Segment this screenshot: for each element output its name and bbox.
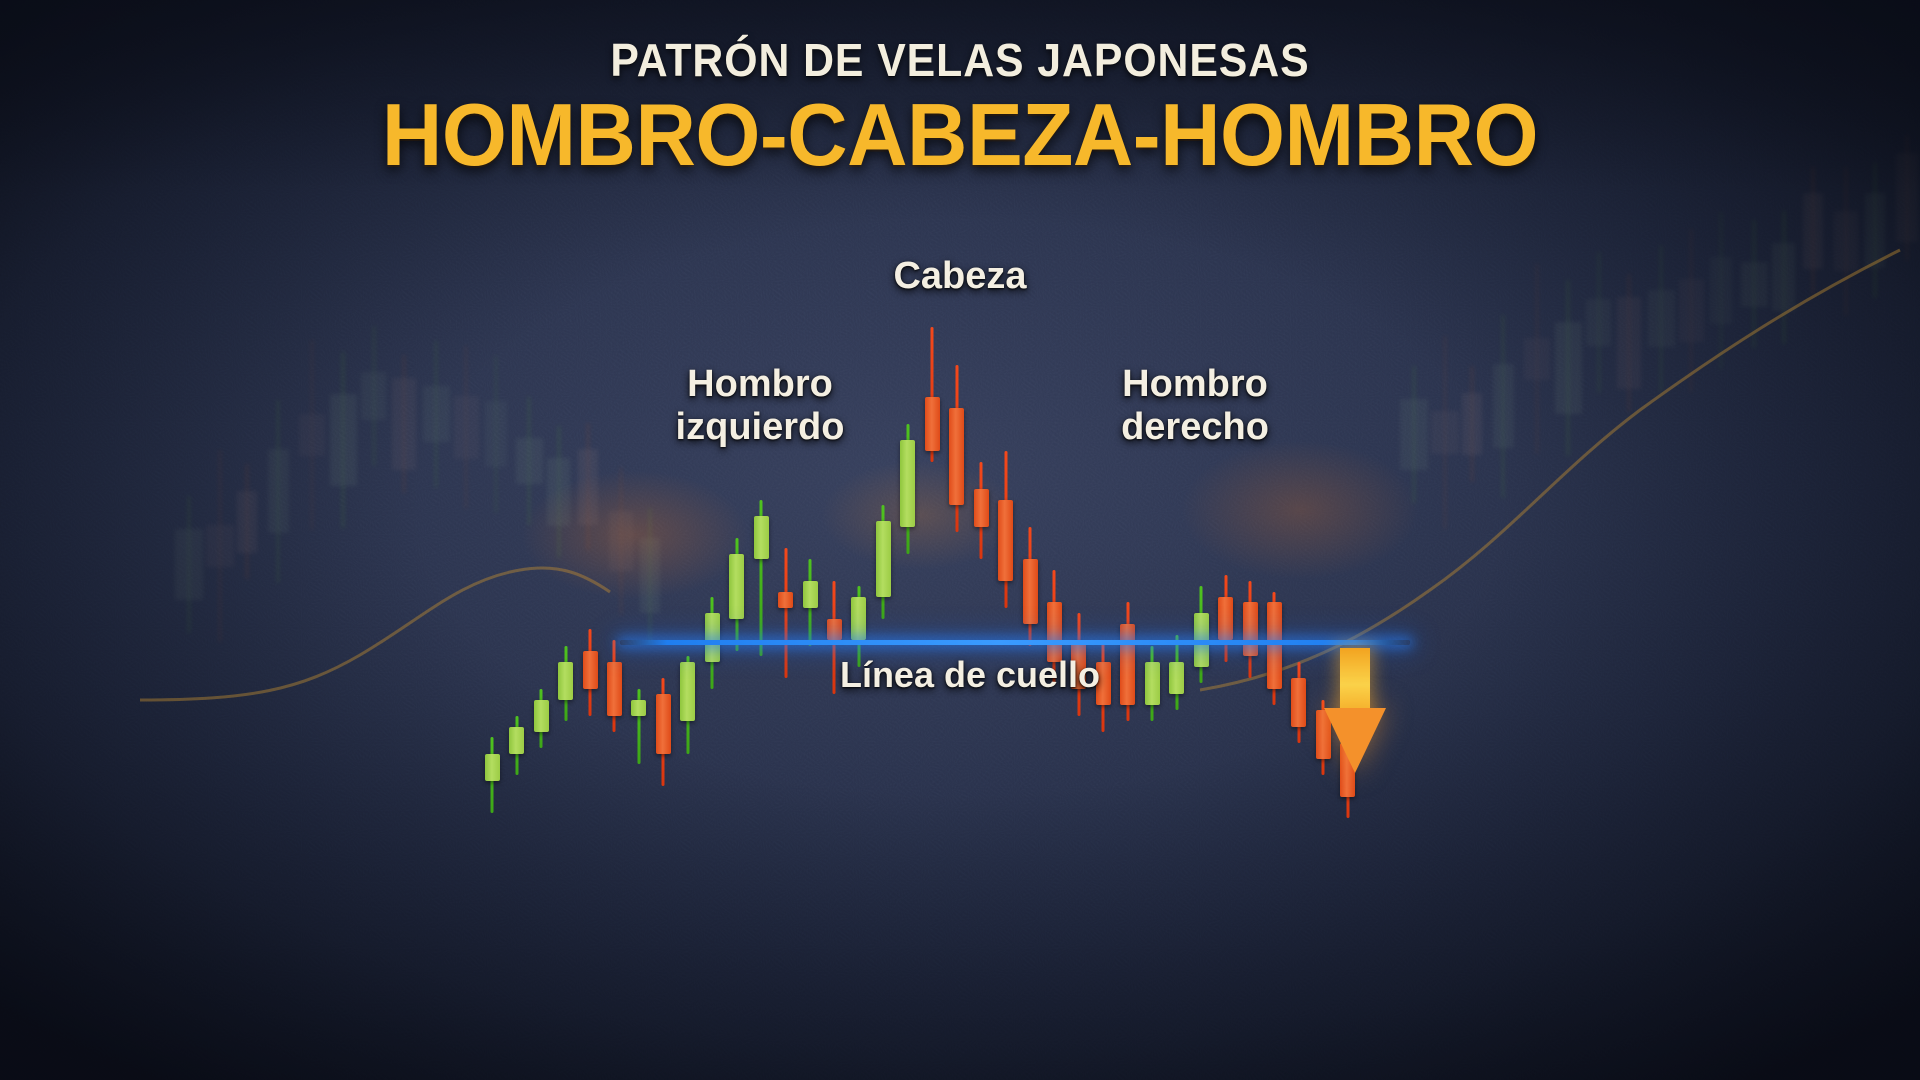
label-head: Cabeza xyxy=(845,255,1075,298)
candle-body xyxy=(1169,662,1184,694)
candle-bearish xyxy=(656,678,671,786)
candle-bearish xyxy=(1023,527,1038,646)
arrow-head xyxy=(1324,708,1386,773)
candle-bearish xyxy=(974,462,989,559)
title-kicker: PATRÓN DE VELAS JAPONESAS xyxy=(67,36,1853,85)
breakdown-arrow-icon xyxy=(1324,648,1386,773)
candle-bullish xyxy=(900,424,915,554)
candle-body xyxy=(1291,678,1306,727)
candle-body xyxy=(998,500,1013,581)
title-block: PATRÓN DE VELAS JAPONESAS HOMBRO-CABEZA-… xyxy=(0,36,1920,179)
candle-body xyxy=(656,694,671,753)
candle-body xyxy=(1047,602,1062,661)
candle-body xyxy=(509,727,524,754)
candle-body xyxy=(680,662,695,721)
candle-bullish xyxy=(1194,586,1209,683)
candle-body xyxy=(485,754,500,781)
candle-bearish xyxy=(998,451,1013,608)
candle-body xyxy=(534,700,549,732)
candle-body xyxy=(1243,602,1258,656)
candle-body xyxy=(1023,559,1038,624)
neckline xyxy=(620,640,1410,645)
page-title: HOMBRO-CABEZA-HOMBRO xyxy=(48,91,1872,179)
candle-bearish xyxy=(1243,581,1258,678)
arrow-shaft xyxy=(1340,648,1370,714)
candle-bearish xyxy=(949,365,964,532)
candle-bearish xyxy=(607,640,622,732)
candle-body xyxy=(925,397,940,451)
candle-body xyxy=(778,592,793,608)
candle-bullish xyxy=(680,656,695,753)
label-neckline: Línea de cuello xyxy=(770,655,1170,696)
candle-bullish xyxy=(1169,635,1184,711)
candle-bullish xyxy=(485,737,500,813)
candle-bullish xyxy=(631,689,646,765)
candle-body xyxy=(827,619,842,641)
candle-bearish xyxy=(1267,592,1282,705)
candle-bullish xyxy=(534,689,549,748)
candle-body xyxy=(705,613,720,662)
candle-body xyxy=(876,521,891,597)
candle-body xyxy=(558,662,573,700)
candle-body xyxy=(583,651,598,689)
candle-body xyxy=(974,489,989,527)
candle-bullish xyxy=(729,538,744,651)
candle-body xyxy=(900,440,915,526)
candle-body xyxy=(1218,597,1233,640)
candle-bearish xyxy=(1291,662,1306,743)
candle-body xyxy=(851,597,866,640)
candle-body xyxy=(607,662,622,716)
candle-bullish xyxy=(876,505,891,618)
candle-bearish xyxy=(925,327,940,462)
candle-body xyxy=(803,581,818,608)
candle-bearish xyxy=(1218,575,1233,661)
label-right-shoulder: Hombro derecho xyxy=(1060,363,1330,449)
candle-bullish xyxy=(803,559,818,645)
candle-body xyxy=(631,700,646,716)
candle-bullish xyxy=(509,716,524,775)
candle-body xyxy=(754,516,769,559)
poster-canvas: PATRÓN DE VELAS JAPONESAS HOMBRO-CABEZA-… xyxy=(0,0,1920,1080)
candle-body xyxy=(729,554,744,619)
label-left-shoulder: Hombro izquierdo xyxy=(625,363,895,449)
candle-bullish xyxy=(558,646,573,722)
candle-body xyxy=(949,408,964,505)
candle-bullish xyxy=(754,500,769,657)
candle-body xyxy=(1267,602,1282,688)
candle-bearish xyxy=(583,629,598,715)
